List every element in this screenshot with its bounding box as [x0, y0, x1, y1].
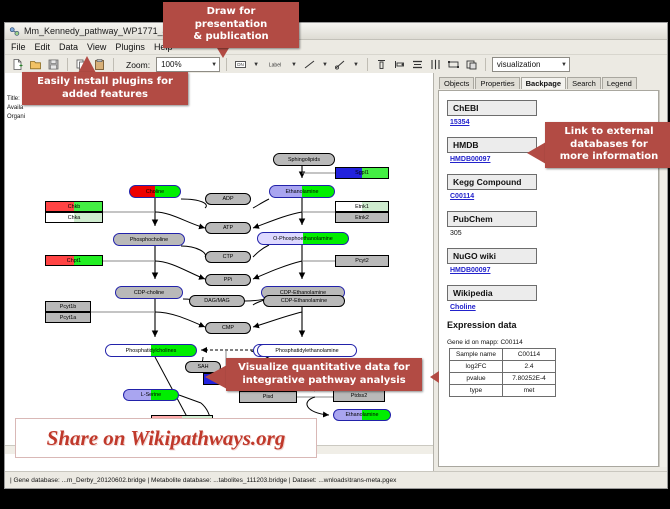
expr-value-cell: 7.80252E-4 — [503, 373, 556, 385]
callout-plugins-arrow-icon — [78, 56, 96, 73]
zoom-value: 100% — [161, 60, 181, 69]
toolbar-separator-5 — [485, 58, 486, 71]
node-label: Pcyt1b — [60, 304, 76, 310]
status-bar: | Gene database: ...m_Derby_20120602.bri… — [5, 471, 667, 488]
table-row: pvalue7.80252E-4 — [450, 373, 556, 385]
metabolite-node-cdp-ethanolamine-r[interactable]: CDP-Ethanolamine — [263, 295, 345, 307]
zoom-label: Zoom: — [126, 60, 150, 70]
screenshot-root: Mm_Kennedy_pathway_WP1771_45176.gpml Fil… — [0, 0, 670, 509]
node-label: Sphingolipids — [288, 157, 320, 163]
align-top-icon[interactable] — [374, 57, 389, 72]
node-label: O-Phosphoethanolamine — [273, 236, 333, 242]
metabolite-node-o-phosphoethanolamine[interactable]: O-Phosphoethanolamine — [257, 232, 349, 245]
node-label: CTP — [223, 254, 234, 260]
node-label: ATP — [223, 225, 233, 231]
metabolite-node-choline-top[interactable]: Choline — [129, 185, 181, 198]
order-icon[interactable] — [464, 57, 479, 72]
node-label: L-Serine — [141, 392, 161, 398]
menu-item-edit[interactable]: Edit — [35, 42, 51, 52]
label-dropdown-icon[interactable]: ▼ — [291, 62, 297, 68]
node-label: Ptdss2 — [351, 393, 367, 399]
callout-link-line1: Link to external — [553, 126, 665, 139]
align-left-icon[interactable] — [392, 57, 407, 72]
metabolite-node-ctp[interactable]: CTP — [205, 251, 251, 263]
metabolite-node-ethanolamine-top[interactable]: Ethanolamine — [269, 185, 335, 198]
metabolite-node-ppi[interactable]: PPi — [205, 274, 251, 286]
callout-draw-line2: & publication — [171, 31, 291, 44]
info-organism: Organi — [7, 113, 25, 122]
callout-plugins-line1: Easily install plugins for — [30, 76, 180, 89]
metabolite-node-l-serine-left[interactable]: L-Serine — [123, 389, 179, 401]
callout-draw: Draw for presentation & publication — [163, 2, 299, 48]
expression-table: Sample nameC00114log2FC2.4pvalue7.80252E… — [449, 348, 556, 397]
toolbar-separator-1 — [67, 58, 68, 71]
pathway-nodes-layer[interactable]: SphingolipidsEthanolamineO-Phosphoethano… — [5, 73, 433, 471]
label-icon[interactable]: Label — [264, 57, 286, 72]
svg-text:Label: Label — [269, 63, 281, 69]
expr-key-cell: pvalue — [450, 373, 503, 385]
menu-item-data[interactable]: Data — [59, 42, 78, 52]
line-dropdown-icon[interactable]: ▼ — [322, 62, 328, 68]
tab-properties[interactable]: Properties — [475, 77, 519, 89]
new-file-icon[interactable] — [10, 57, 25, 72]
expr-key-cell: log2FC — [450, 361, 503, 373]
node-label: Pcyt2 — [355, 258, 368, 264]
metabolite-node-dagmag[interactable]: DAG/MAG — [189, 295, 245, 307]
chevron-down-icon: ▼ — [555, 62, 567, 68]
toolbar-separator-3 — [226, 58, 227, 71]
db-header-pubchem: PubChem — [447, 211, 537, 227]
menu-item-view[interactable]: View — [87, 42, 106, 52]
callout-link-line3: more information — [553, 151, 665, 164]
gene-node-chka[interactable]: Chka — [45, 212, 103, 223]
gene-node-sgpl1[interactable]: Sgpl1 — [335, 167, 389, 179]
node-label: Ethanolamine — [346, 412, 379, 418]
node-label: ADP — [222, 196, 233, 202]
db-value-kegg-compound[interactable]: C00114 — [450, 193, 658, 200]
db-header-wikipedia: Wikipedia — [447, 285, 537, 301]
metabolite-node-sphingolipids[interactable]: Sphingolipids — [273, 153, 335, 166]
metabolite-node-cmp[interactable]: CMP — [205, 322, 251, 334]
callout-draw-arrow-tip-icon — [217, 48, 229, 58]
expr-key-cell: type — [450, 385, 503, 397]
node-label: DAG/MAG — [204, 298, 229, 304]
distribute-icon[interactable] — [428, 57, 443, 72]
callout-visualize-arrow-icon — [205, 365, 227, 389]
node-label: Pcyt1a — [60, 315, 76, 321]
node-label: PPi — [224, 277, 232, 283]
node-label: CDP-choline — [134, 290, 164, 296]
interaction-icon[interactable] — [333, 57, 348, 72]
toolbar-separator-4 — [367, 58, 368, 71]
node-label: Etnk1 — [355, 204, 369, 210]
gene-node-chkb[interactable]: Chkb — [45, 201, 103, 212]
chevron-down-icon: ▼ — [205, 62, 217, 68]
expr-value-cell: met — [503, 385, 556, 397]
gene-node-pcyt1b[interactable]: Pcyt1b — [45, 301, 91, 312]
node-label: Sgpl1 — [355, 170, 369, 176]
menu-item-file[interactable]: File — [11, 42, 26, 52]
db-header-nugo-wiki: NuGO wiki — [447, 248, 537, 264]
datanode-dropdown-icon[interactable]: ▼ — [253, 62, 259, 68]
node-label: CDP-Ethanolamine — [281, 298, 327, 304]
callout-link: Link to external databases for more info… — [545, 122, 670, 168]
callout-link-line2: databases for — [553, 139, 665, 152]
menu-bar: File Edit Data View Plugins Help — [5, 40, 667, 55]
metabolite-node-atp[interactable]: ATP — [205, 222, 251, 234]
node-label: Etnk2 — [355, 215, 369, 221]
db-header-kegg-compound: Kegg Compound — [447, 174, 537, 190]
node-label: Chkb — [68, 204, 81, 210]
gene-id-line: Gene id on mapp: C00114 — [447, 339, 658, 346]
metabolite-node-ethanolamine-right[interactable]: Ethanolamine — [333, 409, 391, 421]
table-row: Sample nameC00114 — [450, 349, 556, 361]
callout-link-arrow-tip-icon — [430, 371, 439, 383]
callout-visualize-line2: integrative pathway analysis — [234, 375, 414, 388]
gene-node-etnk2[interactable]: Etnk2 — [335, 212, 389, 223]
pathvisio-icon — [9, 26, 20, 37]
tab-search[interactable]: Search — [567, 77, 601, 89]
node-label: Chka — [68, 215, 81, 221]
db-header-hmdb: HMDB — [447, 137, 537, 153]
node-label: Phosphocholine — [130, 237, 168, 243]
node-label: Phosphatidylethanolamine — [275, 348, 338, 354]
callout-draw-line1: Draw for presentation — [171, 6, 291, 31]
callout-share-text: Share on Wikipathways.org — [47, 426, 286, 451]
save-icon[interactable] — [46, 57, 61, 72]
callout-share: Share on Wikipathways.org — [15, 418, 317, 458]
expression-data-heading: Expression data — [447, 320, 658, 330]
visualization-combobox[interactable]: visualization ▼ — [492, 57, 570, 72]
node-label: Phosphatidylcholines — [126, 348, 177, 354]
callout-plugins-line2: added features — [30, 89, 180, 102]
gene-node-ptdss2[interactable]: Ptdss2 — [333, 390, 385, 402]
callout-visualize-line1: Visualize quantitative data for — [234, 362, 414, 375]
metabolite-node-cdp-choline[interactable]: CDP-choline — [115, 286, 183, 299]
expr-value-cell: 2.4 — [503, 361, 556, 373]
tab-backpage[interactable]: Backpage — [521, 77, 566, 89]
metabolite-node-phosphocholine[interactable]: Phosphocholine — [113, 233, 185, 246]
db-value-wikipedia[interactable]: Choline — [450, 304, 658, 311]
node-label: Ethanolamine — [286, 189, 319, 195]
node-label: Pisd — [263, 394, 274, 400]
tab-objects[interactable]: Objects — [439, 77, 474, 89]
callout-plugins: Easily install plugins for added feature… — [22, 72, 188, 105]
callout-visualize: Visualize quantitative data for integrat… — [226, 358, 422, 391]
menu-item-plugins[interactable]: Plugins — [115, 42, 145, 52]
status-text: | Gene database: ...m_Derby_20120602.bri… — [10, 477, 396, 484]
metabolite-node-phosphatidylcholines[interactable]: Phosphatidylcholines — [105, 344, 197, 357]
gene-node-pisd[interactable]: Pisd — [239, 391, 297, 403]
side-panel-tabs[interactable]: ObjectsPropertiesBackpageSearchLegend — [434, 73, 667, 89]
metabolite-node-adp[interactable]: ADP — [205, 193, 251, 205]
expr-key-cell: Sample name — [450, 349, 503, 361]
svg-text:DN: DN — [237, 62, 244, 67]
expr-value-cell: C00114 — [503, 349, 556, 361]
node-label: Chpt1 — [67, 258, 81, 264]
table-row: log2FC2.4 — [450, 361, 556, 373]
gene-node-pcyt2[interactable]: Pcyt2 — [335, 255, 389, 267]
tab-legend[interactable]: Legend — [602, 77, 637, 89]
callout-link-arrow-icon — [527, 142, 546, 164]
toolbar-separator-2 — [113, 58, 114, 71]
db-header-chebi: ChEBI — [447, 100, 537, 116]
gene-node-pcyt1a[interactable]: Pcyt1a — [45, 312, 91, 323]
db-value-pubchem: 305 — [450, 230, 658, 237]
gene-node-chpt1[interactable]: Chpt1 — [45, 255, 103, 266]
interaction-dropdown-icon[interactable]: ▼ — [353, 62, 359, 68]
line-icon[interactable] — [302, 57, 317, 72]
info-availability: Availa — [7, 104, 25, 113]
stack-icon[interactable] — [410, 57, 425, 72]
metabolite-node-phosphatidylethanolamine-r[interactable]: Phosphatidylethanolamine — [257, 344, 357, 357]
group-icon[interactable] — [446, 57, 461, 72]
zoom-combobox[interactable]: 100% ▼ — [156, 57, 220, 72]
visualization-value: visualization — [497, 60, 541, 69]
table-row: typemet — [450, 385, 556, 397]
title-bar: Mm_Kennedy_pathway_WP1771_45176.gpml — [5, 23, 667, 40]
node-label: Choline — [146, 189, 164, 195]
pathway-canvas[interactable]: Title: Availa Organi — [5, 73, 434, 471]
gene-node-etnk1[interactable]: Etnk1 — [335, 201, 389, 212]
node-label: CMP — [222, 325, 234, 331]
open-folder-icon[interactable] — [28, 57, 43, 72]
datanode-icon[interactable]: DN — [233, 57, 248, 72]
db-value-nugo-wiki[interactable]: HMDB00097 — [450, 267, 658, 274]
